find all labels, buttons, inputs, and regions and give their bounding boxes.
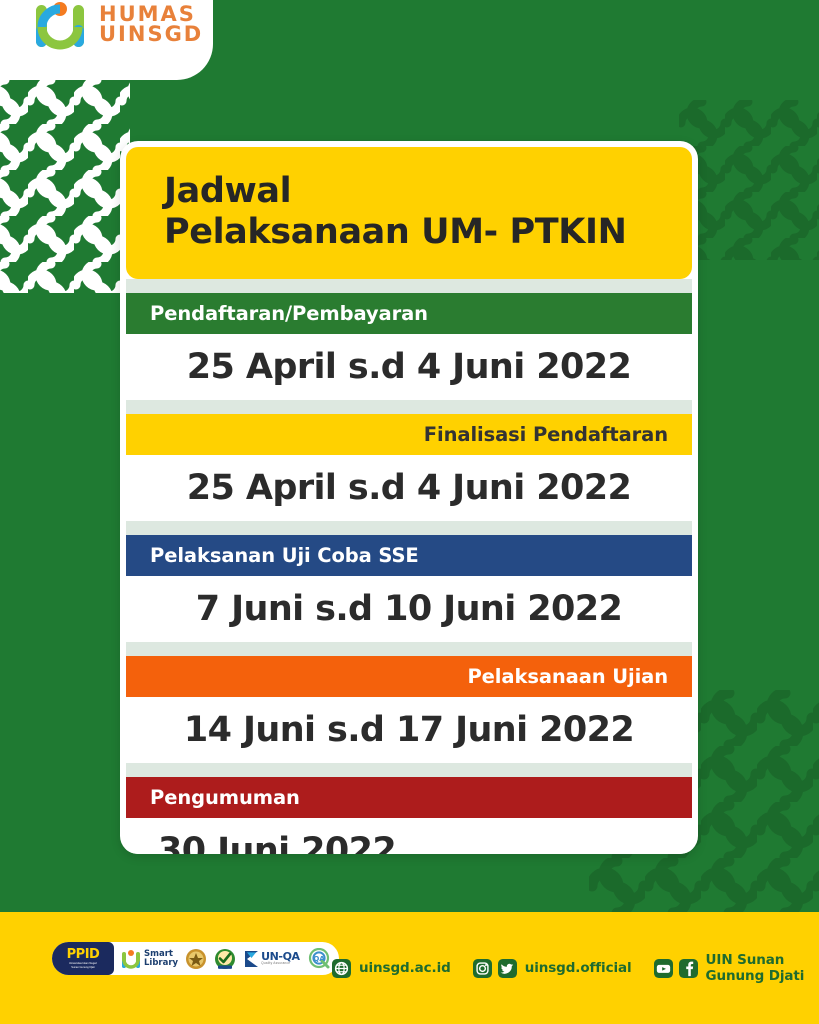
row-label-text: Pendaftaran/Pembayaran [150,302,428,325]
row-value-text: 30 Juni 2022 [158,831,396,854]
social-label-youtube-facebook: UIN Sunan Gunung Djati [706,952,819,984]
social-item-youtube-facebook[interactable]: UIN Sunan Gunung Djati [654,952,819,984]
page-title-line-2: Pelaksanaan UM- PTKIN [164,212,654,253]
row-spacer [126,279,692,293]
row-label-text: Pelaksanan Uji Coba SSE [150,544,419,567]
schedule-row-value: 7 Juni s.d 10 Juni 2022 [126,576,692,642]
smart-library-icon [121,948,141,970]
smart-library-text: Smart Library [144,950,178,967]
schedule-row-label: Finalisasi Pendaftaran [126,414,692,455]
footer-bar: PPID Universitas Islam NegeriSunan Gunun… [0,912,819,1024]
smart-library-badge: Smart Library [121,948,178,970]
schedule-row-label: Pelaksanan Uji Coba SSE [126,535,692,576]
partner-badges-pill: PPID Universitas Islam NegeriSunan Gunun… [52,942,339,975]
social-item-instagram-twitter[interactable]: uinsgd.official [473,959,632,978]
twitter-icon [498,959,517,978]
ppid-badge-sub: Universitas Islam NegeriSunan Gunung Dja… [69,962,97,968]
row-value-text: 25 April s.d 4 Juni 2022 [187,347,631,387]
card-title-block: Jadwal Pelaksanaan UM- PTKIN [126,147,692,279]
smart-library-line-2: Library [144,959,178,968]
humas-uinsgd-logo-icon [32,0,88,53]
schedule-row-value: 14 Juni s.d 17 Juni 2022 [126,697,692,763]
social-label-website: uinsgd.ac.id [359,960,451,976]
ppid-badge: PPID Universitas Islam NegeriSunan Gunun… [52,942,114,975]
row-label-text: Finalisasi Pendaftaran [424,423,668,446]
youtube-icon [654,959,673,978]
brand-line-2: UINSGD [99,25,203,45]
schedule-row-label: Pengumuman [126,777,692,818]
accreditation-seal-gold [185,948,207,970]
decorative-pattern-top-right [679,100,819,260]
schedule-row-value: 25 April s.d 4 Juni 2022 [126,455,692,521]
brand-header-plate: HUMAS UINSGD [0,0,213,80]
qa-seal: QA [307,948,331,970]
row-value-text: 14 Juni s.d 17 Juni 2022 [184,710,634,750]
row-label-text: Pengumuman [150,786,300,809]
globe-icon [332,959,351,978]
row-value-text: 7 Juni s.d 10 Juni 2022 [196,589,623,629]
social-links: uinsgd.ac.id uinsgd.official [332,912,819,1024]
instagram-icon [473,959,492,978]
row-label-text: Pelaksanaan Ujian [467,665,668,688]
svg-text:QA: QA [313,955,325,963]
facebook-icon [679,959,698,978]
schedule-row-value: 30 Juni 2022 [126,818,692,854]
page-title-line-1: Jadwal [164,171,654,212]
row-spacer [126,763,692,777]
social-item-website[interactable]: uinsgd.ac.id [332,959,451,978]
ppid-badge-text: PPID [67,948,100,961]
schedule-row-label: Pendaftaran/Pembayaran [126,293,692,334]
row-spacer [126,642,692,656]
row-spacer [126,400,692,414]
brand-wordmark: HUMAS UINSGD [99,5,203,44]
social-label-instagram-twitter: uinsgd.official [525,960,632,976]
schedule-row-value: 25 April s.d 4 Juni 2022 [126,334,692,400]
ban-pt-seal [214,948,236,970]
un-qa-mark-icon [243,949,260,969]
un-qa-badge: UN-QA Quality Assurance [243,949,300,969]
row-value-text: 25 April s.d 4 Juni 2022 [187,468,631,508]
schedule-card: Jadwal Pelaksanaan UM- PTKIN Pendaftaran… [120,141,698,854]
schedule-row-label: Pelaksanaan Ujian [126,656,692,697]
row-spacer [126,521,692,535]
